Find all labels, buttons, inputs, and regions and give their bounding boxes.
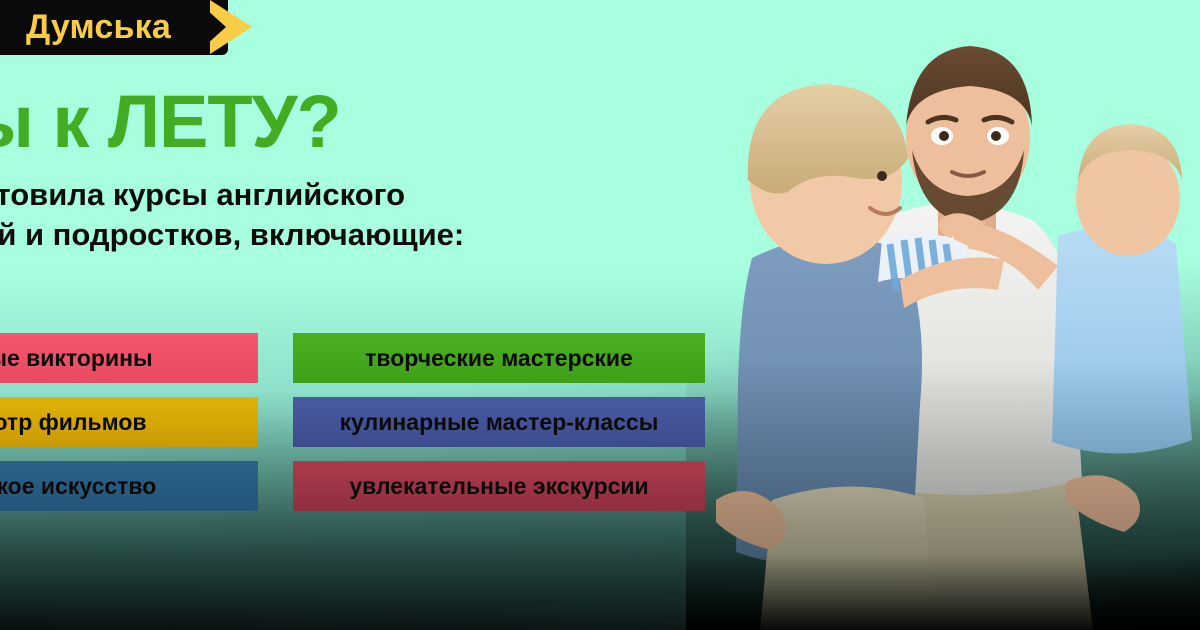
grid-gutter — [258, 397, 293, 447]
photo-man-with-children — [686, 30, 1200, 630]
grid-gutter — [258, 461, 293, 511]
copy-block: овы к ЛЕТУ? а подготовила курсы английск… — [0, 86, 760, 254]
chevron-notch-shape — [196, 0, 226, 54]
feature-tag-grid: ые викторины творческие мастерские отр ф… — [0, 333, 705, 511]
tag-art[interactable]: ское искусство — [0, 461, 258, 511]
subtitle: а подготовила курсы английского ля детей… — [0, 175, 760, 254]
tag-creative-studios[interactable]: творческие мастерские — [293, 333, 705, 383]
brand-name: Думська — [26, 0, 171, 55]
brand-logo-badge[interactable]: Думська — [0, 0, 252, 55]
grid-gutter — [258, 333, 293, 383]
tag-movie-watching[interactable]: отр фильмов — [0, 397, 258, 447]
subtitle-line-2: ля детей и подростков, включающие: — [0, 215, 760, 255]
page-title: овы к ЛЕТУ? — [0, 86, 760, 157]
subtitle-line-1: а подготовила курсы английского — [0, 175, 760, 215]
tag-cooking-classes[interactable]: кулинарные мастер-классы — [293, 397, 705, 447]
tag-excursions[interactable]: увлекательные экскурсии — [293, 461, 705, 511]
tag-quizzes[interactable]: ые викторины — [0, 333, 258, 383]
promo-banner: Думська овы к ЛЕТУ? а подготовила курсы … — [0, 0, 1200, 630]
